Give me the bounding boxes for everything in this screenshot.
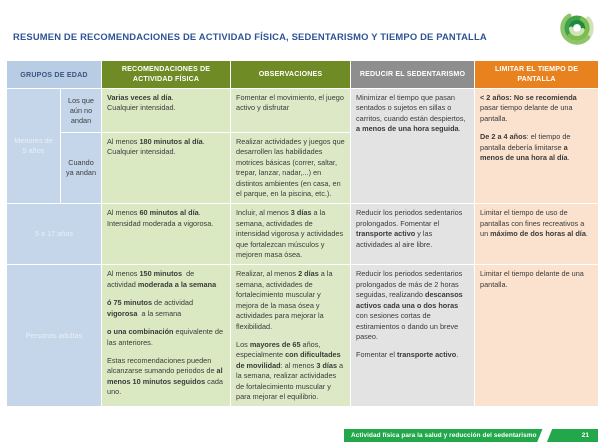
column-header-observations: OBSERVACIONES	[231, 61, 351, 89]
cell-reduce-sedentary: Reducir los periodos sedentarios prolong…	[351, 204, 475, 265]
age-subgroup-label: Los que aún no andan	[61, 89, 102, 133]
cell-reduce-sedentary: Minimizar el tiempo que pasan sentados o…	[351, 89, 475, 204]
cell-observations: Realizar actividades y juegos que desarr…	[231, 133, 351, 204]
column-header-age-groups: GRUPOS DE EDAD	[7, 61, 102, 89]
table-row: 5 a 17 años Al menos 60 minutos al día.I…	[7, 204, 599, 265]
age-subgroup-label: Cuando ya andan	[61, 133, 102, 204]
age-group-label: Personas adultas	[7, 265, 102, 407]
page-title: RESUMEN DE RECOMENDACIONES DE ACTIVIDAD …	[13, 31, 553, 43]
table-row: Personas adultas Al menos 150 minutos de…	[7, 265, 599, 407]
green-swirl-logo-icon	[558, 9, 596, 47]
footer-title: Actividad física para la salud y reducci…	[351, 432, 537, 439]
cell-limit-screen: < 2 años: No se recomienda pasar tiempo …	[475, 89, 599, 204]
cell-limit-screen: Limitar el tiempo delante de una pantall…	[475, 265, 599, 407]
cell-physical-activity: Varias veces al día.Cualquier intensidad…	[102, 89, 231, 133]
cell-reduce-sedentary: Reducir los periodos sedentarios prolong…	[351, 265, 475, 407]
column-header-limit-screen: LIMITAR EL TIEMPO DE PANTALLA	[475, 61, 599, 89]
recommendations-table: GRUPOS DE EDAD RECOMENDACIONES DE ACTIVI…	[6, 60, 599, 407]
age-group-label: 5 a 17 años	[7, 204, 102, 265]
page-number: 21	[582, 432, 589, 439]
cell-observations: Realizar, al menos 2 días a la semana, a…	[231, 265, 351, 407]
column-header-reduce-sedentary: REDUCIR EL SEDENTARISMO	[351, 61, 475, 89]
footer-slash-decoration	[537, 429, 553, 442]
cell-limit-screen: Limitar el tiempo de uso de pantallas co…	[475, 204, 599, 265]
cell-physical-activity: Al menos 60 minutos al día.Intensidad mo…	[102, 204, 231, 265]
cell-observations: Fomentar el movimiento, el juego activo …	[231, 89, 351, 133]
cell-observations: Incluir, al menos 3 días a la semana, ac…	[231, 204, 351, 265]
column-header-physical-activity: RECOMENDACIONES DE ACTIVIDAD FÍSICA	[102, 61, 231, 89]
cell-physical-activity: Al menos 180 minutos al día.Cualquier in…	[102, 133, 231, 204]
age-group-label: Menores de 5 años	[7, 89, 61, 204]
table-header-row: GRUPOS DE EDAD RECOMENDACIONES DE ACTIVI…	[7, 61, 599, 89]
cell-physical-activity: Al menos 150 minutos de actividad modera…	[102, 265, 231, 407]
table-row: Menores de 5 años Los que aún no andan V…	[7, 89, 599, 133]
footer-bar: Actividad física para la salud y reducci…	[344, 429, 598, 442]
